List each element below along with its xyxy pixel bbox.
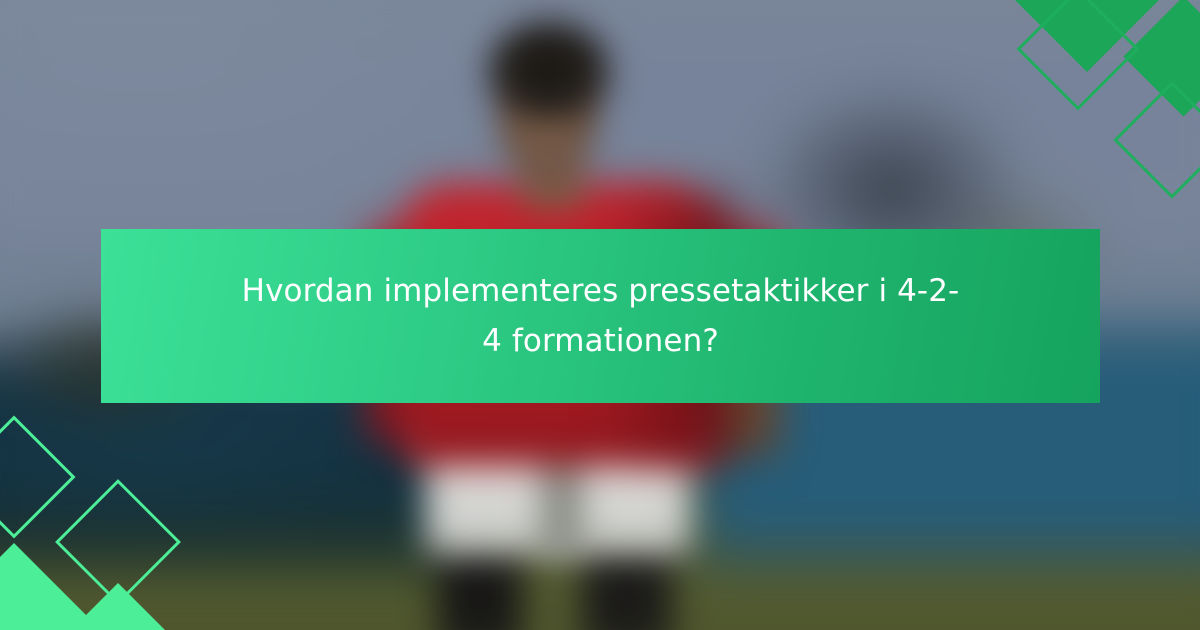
social-card: Hvordan implementeres pressetaktikker i … [0, 0, 1200, 630]
player-leg-left [438, 542, 522, 630]
player-hair [486, 22, 612, 123]
player-leg-right [582, 542, 672, 630]
headline-panel: Hvordan implementeres pressetaktikker i … [101, 229, 1100, 403]
page-title: Hvordan implementeres pressetaktikker i … [236, 266, 966, 366]
